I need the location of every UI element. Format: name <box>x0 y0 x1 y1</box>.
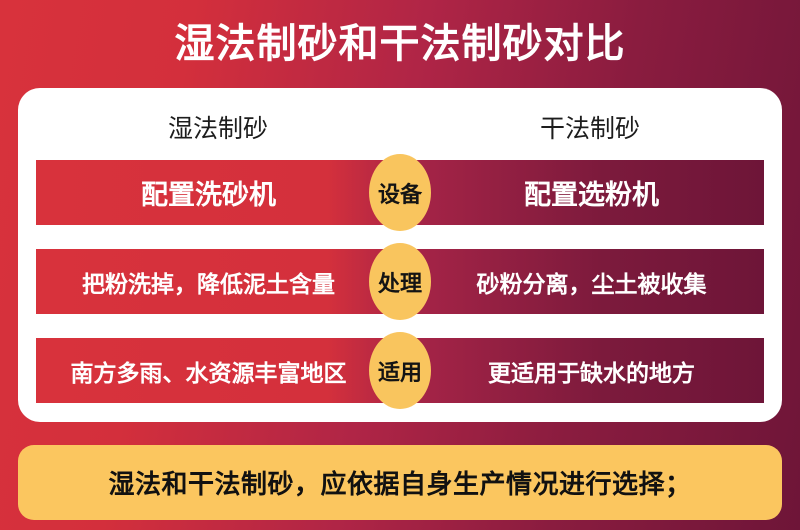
row-cell-wet: 把粉洗掉，降低泥土含量 <box>36 249 381 314</box>
comparison-card: 湿法制砂 干法制砂 配置洗砂机 设备 配置选粉机 把粉洗掉，降低泥土含量 处理 … <box>18 88 782 422</box>
footer-note-box: 湿法和干法制砂，应依据自身生产情况进行选择； <box>18 445 782 520</box>
comparison-rows: 配置洗砂机 设备 配置选粉机 把粉洗掉，降低泥土含量 处理 砂粉分离，尘土被收集… <box>36 160 764 403</box>
column-header-wet: 湿法制砂 <box>38 102 398 152</box>
row-cell-wet: 配置洗砂机 <box>36 160 381 225</box>
table-row: 把粉洗掉，降低泥土含量 处理 砂粉分离，尘土被收集 <box>36 249 764 314</box>
infographic-root: 湿法制砂和干法制砂对比 湿法制砂 干法制砂 配置洗砂机 设备 配置选粉机 把粉洗… <box>0 0 800 530</box>
row-badge-suitability: 适用 <box>369 332 431 409</box>
table-row: 南方多雨、水资源丰富地区 适用 更适用于缺水的地方 <box>36 338 764 403</box>
column-header-dry: 干法制砂 <box>418 102 762 152</box>
footer-note-text: 湿法和干法制砂，应依据自身生产情况进行选择； <box>108 464 691 501</box>
table-row: 配置洗砂机 设备 配置选粉机 <box>36 160 764 225</box>
row-cell-dry: 砂粉分离，尘土被收集 <box>419 249 764 314</box>
row-cell-wet: 南方多雨、水资源丰富地区 <box>36 338 381 403</box>
row-cell-dry: 配置选粉机 <box>419 160 764 225</box>
title-bar: 湿法制砂和干法制砂对比 <box>0 0 800 88</box>
row-badge-equipment: 设备 <box>369 154 431 231</box>
column-headers: 湿法制砂 干法制砂 <box>18 102 782 152</box>
row-cell-dry: 更适用于缺水的地方 <box>419 338 764 403</box>
row-badge-process: 处理 <box>369 243 431 320</box>
page-title: 湿法制砂和干法制砂对比 <box>175 24 626 64</box>
